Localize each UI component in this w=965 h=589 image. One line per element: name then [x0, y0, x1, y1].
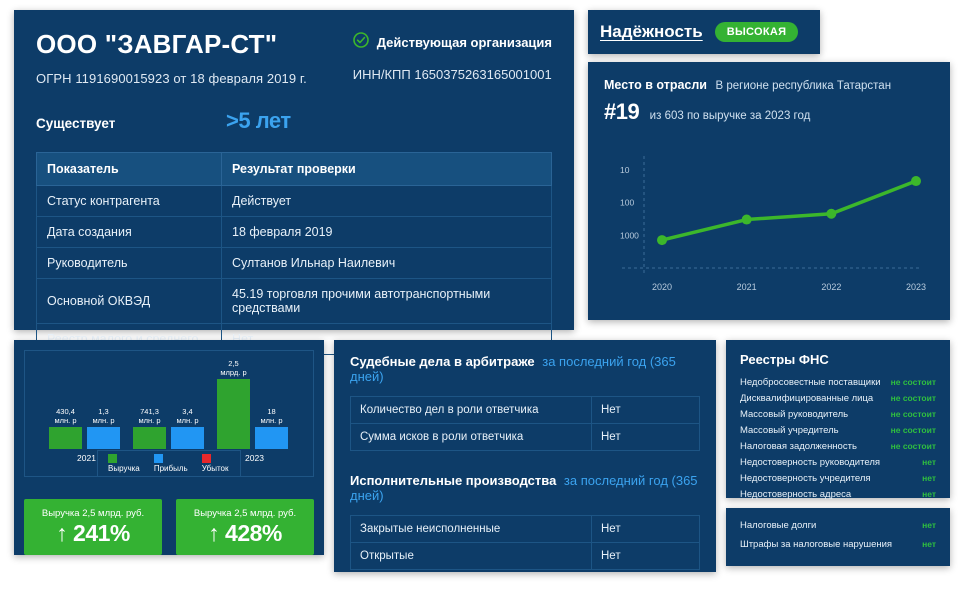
- reliability-badge: ВЫСОКАЯ: [715, 22, 799, 42]
- svg-text:млн. р: млн. р: [54, 416, 76, 425]
- company-age-value: >5 лет: [226, 108, 291, 134]
- fns-row-label: Недостоверность адреса: [740, 489, 851, 500]
- company-age-label: Существует: [36, 116, 226, 131]
- revenue-bar-chart: 430,4млн. р1,3млн. р2021741,3млн. р3,4мл…: [24, 350, 314, 477]
- fns-row-value: не состоит: [891, 377, 936, 387]
- table-row: Руководитель Султанов Ильнар Наилевич: [37, 247, 552, 278]
- enforcement-title-row: Исполнительные производства за последний…: [350, 473, 700, 503]
- table-row: Открытые Нет: [351, 543, 700, 570]
- industry-rank-panel: Место в отрасли В регионе республика Тат…: [588, 62, 950, 320]
- row-value: 18 февраля 2019: [222, 216, 552, 247]
- arbitration-table: Количество дел в роли ответчика Нет Сумм…: [350, 396, 700, 451]
- fns-row-value: нет: [922, 489, 936, 499]
- fns-row-label: Массовый учредитель: [740, 425, 839, 436]
- growth-caption: Выручка 2,5 млрд. руб.: [194, 508, 296, 519]
- fns-row: Недостоверность учредителянет: [740, 473, 936, 484]
- svg-text:741,3: 741,3: [140, 407, 159, 416]
- fns-row-label: Недобросовестные поставщики: [740, 377, 881, 388]
- row-label: Дата создания: [37, 216, 222, 247]
- row-value: Нет: [592, 543, 700, 570]
- tax-row: Налоговые долгинет: [740, 520, 936, 531]
- tax-row-value: нет: [922, 520, 936, 530]
- fns-registry-panel: Реестры ФНС Недобросовестные поставщикин…: [726, 340, 950, 498]
- fns-row-value: не состоит: [891, 441, 936, 451]
- svg-text:100: 100: [620, 198, 634, 208]
- svg-text:млрд. р: млрд. р: [220, 368, 246, 377]
- svg-text:млн. р: млн. р: [138, 416, 160, 425]
- table-row: Дата создания 18 февраля 2019: [37, 216, 552, 247]
- col-result: Результат проверки: [222, 152, 552, 185]
- table-row: Основной ОКВЭД 45.19 торговля прочими ав…: [37, 278, 552, 323]
- svg-text:2021: 2021: [77, 453, 96, 463]
- legend-item-loss: Убыток: [202, 454, 230, 473]
- tax-debts-panel: Налоговые долгинетШтрафы за налоговые на…: [726, 508, 950, 566]
- finance-panel: 430,4млн. р1,3млн. р2021741,3млн. р3,4мл…: [14, 340, 324, 555]
- industry-title: Место в отрасли: [604, 78, 707, 92]
- table-row: Закрытые неисполненные Нет: [351, 516, 700, 543]
- row-label: Количество дел в роли ответчика: [351, 397, 592, 424]
- company-check-table: Показатель Результат проверки Статус кон…: [36, 152, 552, 355]
- table-header-row: Показатель Результат проверки: [37, 152, 552, 185]
- row-label: Открытые: [351, 543, 592, 570]
- svg-text:2,5: 2,5: [228, 359, 238, 368]
- table-row: Статус контрагента Действует: [37, 185, 552, 216]
- company-header-panel: ООО "ЗАВГАР-СТ" ОГРН 1191690015923 от 18…: [14, 10, 574, 330]
- fns-row-value: не состоит: [891, 409, 936, 419]
- legend-item-revenue: Выручка: [108, 454, 140, 473]
- row-label: Сумма исков в роли ответчика: [351, 424, 592, 451]
- arbitration-title: Судебные дела в арбитраже: [350, 354, 535, 369]
- growth-card: Выручка 2,5 млрд. руб. ↑ 428%: [176, 499, 314, 555]
- company-age-row: Существует >5 лет: [36, 108, 552, 134]
- tax-row-label: Налоговые долги: [740, 520, 816, 531]
- arbitration-title-row: Судебные дела в арбитраже за последний г…: [350, 354, 700, 384]
- svg-text:2021: 2021: [737, 282, 757, 292]
- row-label: Статус контрагента: [37, 185, 222, 216]
- row-value: Султанов Ильнар Наилевич: [222, 247, 552, 278]
- svg-text:2023: 2023: [906, 282, 926, 292]
- row-value: Нет: [592, 516, 700, 543]
- growth-caption: Выручка 2,5 млрд. руб.: [42, 508, 144, 519]
- industry-rank-of: из 603 по выручке за 2023 год: [650, 110, 811, 122]
- svg-text:10: 10: [620, 165, 630, 175]
- fns-row: Массовый руководительне состоит: [740, 409, 936, 420]
- fns-row: Массовый учредительне состоит: [740, 425, 936, 436]
- enforcement-table: Закрытые неисполненные Нет Открытые Нет: [350, 515, 700, 570]
- legend-item-profit: Прибыль: [154, 454, 188, 473]
- svg-text:млн. р: млн. р: [92, 416, 114, 425]
- svg-text:430,4: 430,4: [56, 407, 75, 416]
- growth-card: Выручка 2,5 млрд. руб. ↑ 241%: [24, 499, 162, 555]
- check-circle-icon: [353, 32, 369, 53]
- row-label: Закрытые неисполненные: [351, 516, 592, 543]
- inn-kpp: ИНН/КПП 1650375263165001001: [353, 67, 552, 82]
- svg-text:1000: 1000: [620, 230, 639, 240]
- fns-row-label: Налоговая задолженность: [740, 441, 857, 452]
- fns-row-value: нет: [922, 473, 936, 483]
- industry-rank-value: #19: [604, 99, 639, 124]
- row-label: Основной ОКВЭД: [37, 278, 222, 323]
- page-title: ООО "ЗАВГАР-СТ": [36, 30, 307, 59]
- tax-row-label: Штрафы за налоговые нарушения: [740, 539, 892, 550]
- row-value: Нет: [592, 424, 700, 451]
- svg-text:2023: 2023: [245, 453, 264, 463]
- fns-row: Недостоверность руководителянет: [740, 457, 936, 468]
- fns-row: Налоговая задолженностьне состоит: [740, 441, 936, 452]
- industry-rank-row: #19 из 603 по выручке за 2023 год: [604, 99, 934, 125]
- svg-text:1,3: 1,3: [98, 407, 108, 416]
- svg-text:2022: 2022: [821, 282, 841, 292]
- fns-title: Реестры ФНС: [740, 352, 936, 367]
- col-indicator: Показатель: [37, 152, 222, 185]
- fns-row-label: Недостоверность руководителя: [740, 457, 880, 468]
- fns-row-value: не состоит: [891, 393, 936, 403]
- tax-row: Штрафы за налоговые нарушениянет: [740, 539, 936, 550]
- enforcement-title: Исполнительные производства: [350, 473, 556, 488]
- growth-value: ↑ 428%: [208, 520, 282, 547]
- fns-row: Недобросовестные поставщикине состоит: [740, 377, 936, 388]
- fns-row-label: Массовый руководитель: [740, 409, 848, 420]
- fns-row: Дисквалифицированные лицане состоит: [740, 393, 936, 404]
- row-value: Нет: [592, 397, 700, 424]
- reliability-label: Надёжность: [600, 22, 703, 42]
- fns-row-label: Недостоверность учредителя: [740, 473, 871, 484]
- registration-number: ОГРН 1191690015923 от 18 февраля 2019 г.: [36, 71, 307, 86]
- svg-text:2020: 2020: [652, 282, 672, 292]
- svg-text:млн. р: млн. р: [176, 416, 198, 425]
- industry-title-row: Место в отрасли В регионе республика Тат…: [604, 78, 934, 92]
- fns-row-value: не состоит: [891, 425, 936, 435]
- tax-row-value: нет: [922, 539, 936, 549]
- svg-text:3,4: 3,4: [182, 407, 192, 416]
- fns-row: Недостоверность адресанет: [740, 489, 936, 500]
- legal-panel: Судебные дела в арбитраже за последний г…: [334, 340, 716, 572]
- svg-text:18: 18: [267, 407, 275, 416]
- industry-subtitle: В регионе республика Татарстан: [715, 80, 891, 92]
- rank-line-chart: 1010010002020202120222023: [604, 150, 934, 300]
- status-badge: Действующая организация: [377, 35, 552, 50]
- growth-value: ↑ 241%: [56, 520, 130, 547]
- row-value: Действует: [222, 185, 552, 216]
- fns-row-value: нет: [922, 457, 936, 467]
- svg-text:млн. р: млн. р: [260, 416, 282, 425]
- fns-row-label: Дисквалифицированные лица: [740, 393, 873, 404]
- table-row: Количество дел в роли ответчика Нет: [351, 397, 700, 424]
- reliability-card[interactable]: Надёжность ВЫСОКАЯ: [588, 10, 820, 54]
- row-value: 45.19 торговля прочими автотранспортными…: [222, 278, 552, 323]
- row-label: Руководитель: [37, 247, 222, 278]
- chart-legend: Выручка Прибыль Убыток: [97, 450, 241, 477]
- table-row: Сумма исков в роли ответчика Нет: [351, 424, 700, 451]
